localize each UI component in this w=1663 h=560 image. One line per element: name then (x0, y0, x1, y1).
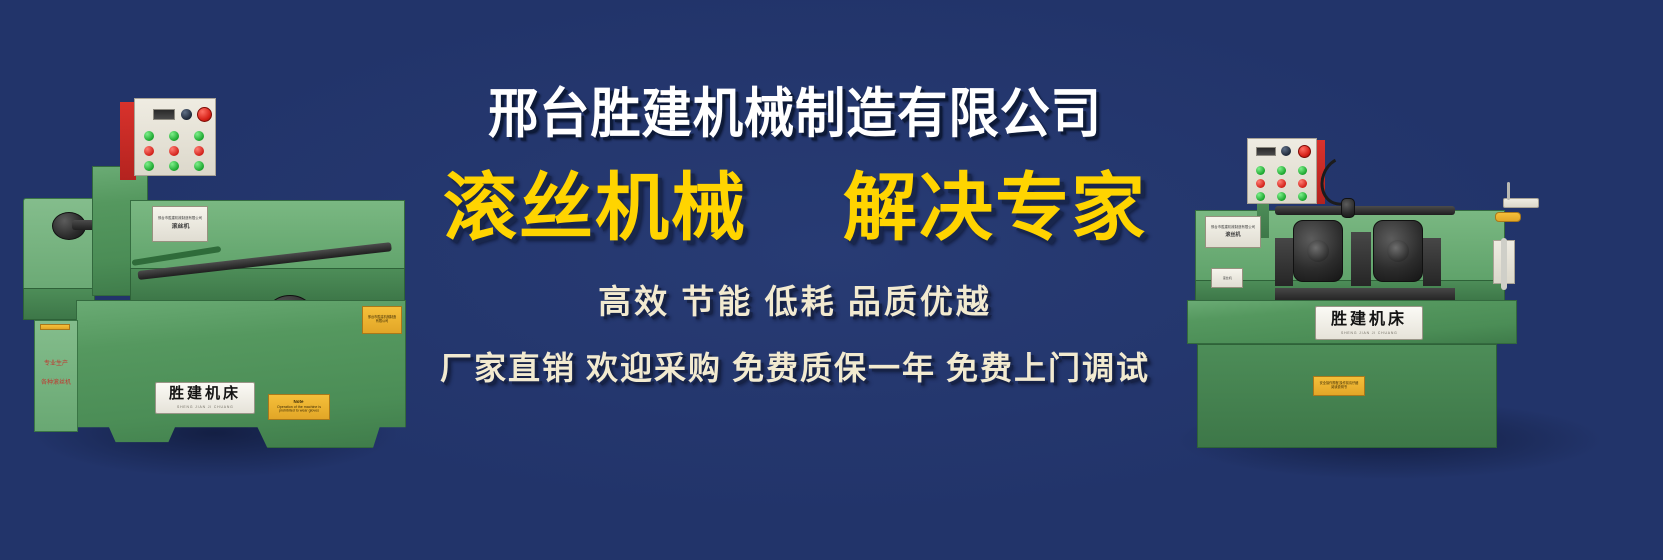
left-panel-button[interactable] (194, 131, 204, 141)
right-carrier-right (1423, 238, 1441, 286)
left-cabinet-top-strip (40, 324, 70, 330)
right-top-antenna (1507, 182, 1510, 200)
left-brand-nameplate: 胜建机床 SHENG JIAN JI CHUANG (155, 382, 255, 414)
right-panel-button[interactable] (1298, 179, 1307, 188)
right-emergency-stop-button[interactable] (1298, 145, 1311, 158)
left-main-body (76, 300, 406, 448)
right-roller-a-core (1307, 240, 1329, 262)
banner-text-block: 邢台胜建机械制造有限公司 滚丝机械 解决专家 高效 节能 低耗 品质优越 厂家直… (390, 86, 1200, 389)
left-side-label-line1: 专业生产 (38, 358, 74, 367)
right-carrier-left (1275, 238, 1293, 286)
left-panel-button[interactable] (144, 161, 154, 171)
left-side-label-line2: 各种滚丝机 (38, 377, 74, 386)
left-spec-plate: 邢台市胜建机械制造有限公司 滚丝机 (152, 206, 208, 242)
machine-left: 邢台市胜建机械制造有限公司 滚丝机 专业生产 各种滚丝机 胜建机床 SHENG … (10, 88, 410, 468)
right-panel-knob-icon[interactable] (1281, 146, 1291, 156)
left-panel-button[interactable] (144, 146, 154, 156)
right-spec-plate-line2: 滚丝机 (1225, 232, 1240, 238)
left-emergency-stop-button[interactable] (197, 107, 212, 122)
right-roller-b-core (1387, 240, 1409, 262)
left-panel-display (153, 109, 175, 120)
right-panel-button[interactable] (1277, 166, 1286, 175)
right-cable-connector (1341, 198, 1355, 218)
right-accessory-rod (1501, 238, 1507, 290)
right-panel-button[interactable] (1298, 192, 1307, 201)
right-lower-pedestal (1197, 344, 1497, 448)
right-brand-nameplate: 胜建机床 SHENG JIAN JI CHUANG (1315, 306, 1423, 340)
right-panel-button[interactable] (1277, 179, 1286, 188)
left-brand-name-pinyin: SHENG JIAN JI CHUANG (177, 405, 234, 408)
left-control-panel[interactable] (134, 98, 216, 176)
company-name: 邢台胜建机械制造有限公司 (418, 86, 1171, 143)
right-secondary-plate-text: 滚丝机 (1223, 276, 1232, 280)
headline-left: 滚丝机械 (443, 171, 747, 245)
left-spec-plate-line2: 滚丝机 (171, 224, 189, 231)
right-accessory-connector-block (1495, 212, 1521, 222)
left-side-cabinet-text: 专业生产 各种滚丝机 (38, 358, 74, 386)
tagline-primary: 高效 节能 低耗 品质优越 (390, 275, 1200, 323)
machine-right: 邢台市胜建机械制造有限公司 滚丝机 滚丝机 胜建机床 SHENG JIAN JI… (1155, 120, 1655, 450)
right-panel-display (1256, 147, 1276, 156)
left-panel-button[interactable] (144, 131, 154, 141)
right-panel-button[interactable] (1298, 166, 1307, 175)
left-panel-knob-icon[interactable] (181, 109, 192, 120)
left-rear-pedestal (23, 198, 95, 298)
right-brand-name-pinyin: SHENG JIAN JI CHUANG (1341, 331, 1398, 334)
left-panel-button[interactable] (194, 146, 204, 156)
left-panel-button[interactable] (169, 146, 179, 156)
left-brand-name-cn: 胜建机床 (169, 387, 241, 402)
right-roller-base (1275, 288, 1455, 300)
right-spec-plate: 邢台市胜建机械制造有限公司 滚丝机 (1205, 216, 1261, 248)
right-spec-plate-line1: 邢台市胜建机械制造有限公司 (1211, 225, 1255, 229)
right-brand-name-cn: 胜建机床 (1331, 312, 1407, 328)
left-panel-button[interactable] (194, 161, 204, 171)
left-panel-button[interactable] (169, 131, 179, 141)
headline-right: 解决专家 (843, 171, 1147, 245)
right-secondary-plate: 滚丝机 (1211, 268, 1243, 288)
right-carrier-mid (1351, 232, 1371, 286)
right-control-panel[interactable] (1247, 138, 1317, 204)
right-warning-label-text: 安全操作规程 操作前请仔细阅读说明书 (1317, 383, 1362, 390)
promo-banner: 邢台市胜建机械制造有限公司 滚丝机 专业生产 各种滚丝机 胜建机床 SHENG … (0, 0, 1663, 560)
left-warning-label: Note Operation of the machine is prohibi… (268, 394, 330, 420)
left-panel-button[interactable] (169, 161, 179, 171)
right-cross-shaft (1275, 206, 1455, 215)
right-panel-button[interactable] (1256, 166, 1265, 175)
right-warning-label: 安全操作规程 操作前请仔细阅读说明书 (1313, 376, 1365, 396)
left-spec-plate-line1: 邢台市胜建机械制造有限公司 (158, 217, 202, 221)
right-panel-button[interactable] (1256, 179, 1265, 188)
tagline-secondary: 厂家直销 欢迎采购 免费质保一年 免费上门调试 (390, 343, 1200, 389)
headline-row: 滚丝机械 解决专家 (390, 171, 1200, 245)
right-panel-button[interactable] (1277, 192, 1286, 201)
right-panel-button[interactable] (1256, 192, 1265, 201)
left-warning-body: Operation of the machine is prohibited t… (272, 406, 326, 414)
